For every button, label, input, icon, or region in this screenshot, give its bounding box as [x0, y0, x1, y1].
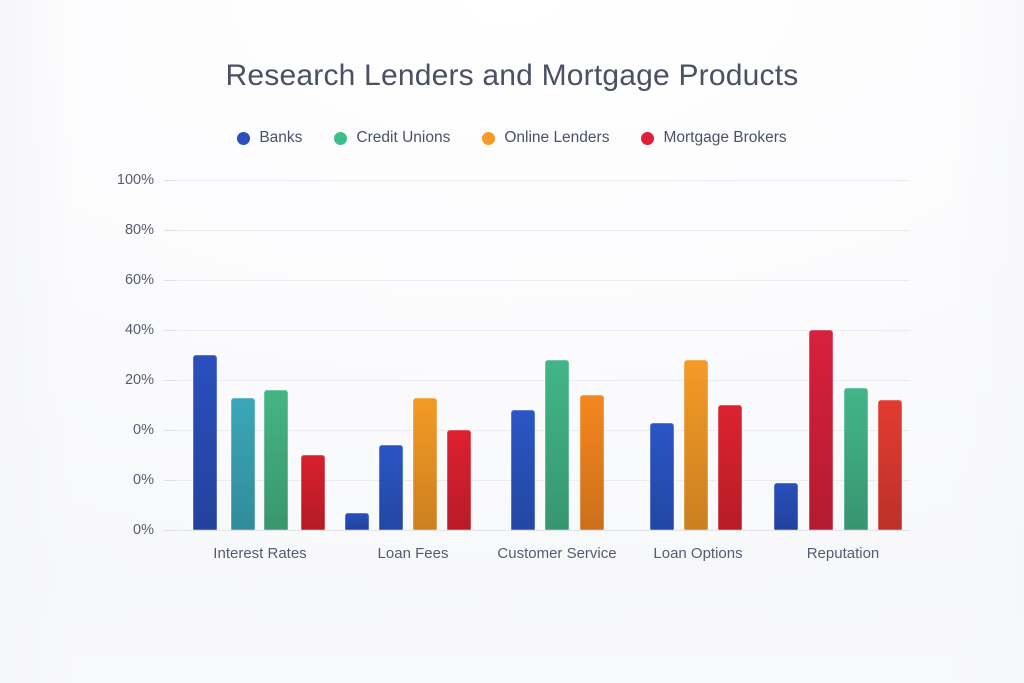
y-axis-tick-mark — [164, 430, 176, 431]
x-axis-tick-label: Loan Fees — [378, 545, 449, 562]
bar[interactable] — [301, 455, 325, 530]
bar[interactable] — [379, 445, 403, 530]
bar[interactable] — [684, 360, 708, 530]
legend-swatch-icon — [334, 132, 347, 145]
gridline — [177, 230, 910, 231]
bar[interactable] — [413, 398, 437, 531]
bar[interactable] — [231, 398, 255, 531]
x-axis-tick-label: Reputation — [807, 545, 880, 562]
legend-swatch-icon — [237, 132, 250, 145]
y-axis-tick-mark — [164, 480, 176, 481]
y-axis-tick-label: 60% — [125, 272, 154, 288]
y-axis-tick-mark — [164, 530, 176, 531]
bar[interactable] — [878, 400, 902, 530]
y-axis-tick-mark — [164, 180, 176, 181]
gridline — [177, 280, 910, 281]
bar[interactable] — [774, 483, 798, 531]
plot-area: 100%80%60%40%20%0%0%0% — [177, 180, 910, 530]
legend-swatch-icon — [641, 132, 654, 145]
bar[interactable] — [511, 410, 535, 530]
legend-item-label: Online Lenders — [504, 129, 609, 147]
x-axis-tick-label: Loan Options — [653, 545, 742, 562]
axis-baseline — [177, 530, 910, 531]
legend-item[interactable]: Online Lenders — [482, 129, 609, 147]
legend-item[interactable]: Credit Unions — [334, 129, 450, 147]
gridline — [177, 180, 910, 181]
x-axis-tick-label: Interest Rates — [213, 545, 306, 562]
bar[interactable] — [718, 405, 742, 530]
legend-swatch-icon — [482, 132, 495, 145]
y-axis-tick-label: 20% — [125, 372, 154, 388]
bar[interactable] — [193, 355, 217, 530]
legend-item-label: Mortgage Brokers — [663, 129, 786, 147]
legend-item[interactable]: Mortgage Brokers — [641, 129, 786, 147]
bar[interactable] — [545, 360, 569, 530]
bar[interactable] — [844, 388, 868, 531]
y-axis-tick-label: 40% — [125, 322, 154, 338]
bar[interactable] — [580, 395, 604, 530]
y-axis-tick-label: 0% — [133, 472, 154, 488]
y-axis-tick-label: 0% — [133, 522, 154, 538]
legend-item-label: Credit Unions — [356, 129, 450, 147]
chart-canvas: Research Lenders and Mortgage Products B… — [0, 0, 1024, 683]
x-axis-tick-label: Customer Service — [497, 545, 616, 562]
bar[interactable] — [809, 330, 833, 530]
y-axis-tick-label: 100% — [117, 172, 154, 188]
bar[interactable] — [650, 423, 674, 531]
y-axis-tick-mark — [164, 380, 176, 381]
y-axis-tick-mark — [164, 280, 176, 281]
chart-title: Research Lenders and Mortgage Products — [0, 59, 1024, 93]
y-axis-tick-mark — [164, 230, 176, 231]
gridline — [177, 380, 910, 381]
chart-legend: BanksCredit UnionsOnline LendersMortgage… — [0, 129, 1024, 147]
legend-item[interactable]: Banks — [237, 129, 302, 147]
x-axis-labels: Interest RatesLoan FeesCustomer ServiceL… — [177, 545, 910, 569]
y-axis-tick-label: 0% — [133, 422, 154, 438]
gridline — [177, 330, 910, 331]
y-axis-tick-label: 80% — [125, 222, 154, 238]
bar[interactable] — [345, 513, 369, 531]
bar[interactable] — [447, 430, 471, 530]
legend-item-label: Banks — [259, 129, 302, 147]
y-axis-tick-mark — [164, 330, 176, 331]
bar[interactable] — [264, 390, 288, 530]
